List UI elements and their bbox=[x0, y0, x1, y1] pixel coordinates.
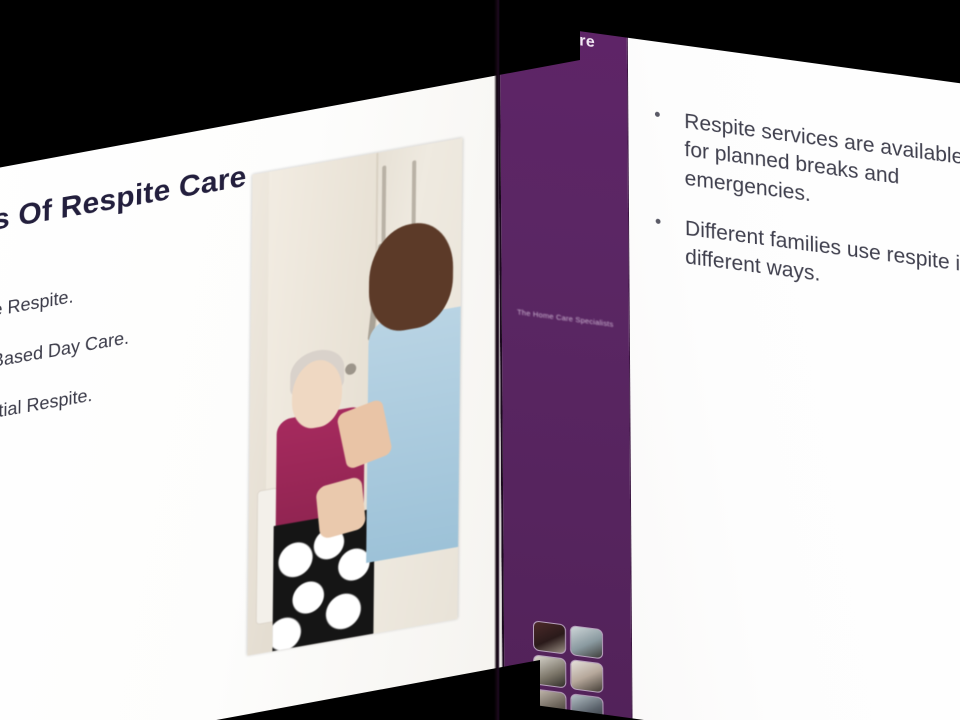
sidebar-thumbnail-1 bbox=[532, 620, 565, 654]
slide-right-canvas: KinCare The Home Care Specialists How To… bbox=[497, 0, 960, 720]
sidebar-thumbnail-4 bbox=[570, 659, 603, 693]
right-slide-bullet-list: Respite services are available for plann… bbox=[648, 103, 960, 332]
left-slide-bullet-list: In-Home Respite. Centre Based Day Care. … bbox=[0, 253, 264, 464]
right-slide-bullet-1: Respite services are available for plann… bbox=[648, 103, 960, 231]
left-slide-photo bbox=[247, 138, 462, 656]
slide-transition-stage: Types Of Respite Care In-Home Respite. C… bbox=[0, 0, 960, 720]
kincare-tagline: The Home Care Specialists bbox=[502, 305, 629, 331]
left-slide-bullet-3: Residential Respite. bbox=[0, 355, 263, 434]
slide-seam bbox=[494, 0, 500, 720]
brand-sidebar: KinCare The Home Care Specialists bbox=[497, 0, 632, 720]
right-slide-bullet-2: Different families use respite in differ… bbox=[649, 210, 960, 310]
sidebar-thumbnail-2 bbox=[569, 625, 602, 659]
sidebar-thumbnail-grid bbox=[532, 620, 603, 720]
slide-right[interactable]: KinCare The Home Care Specialists How To… bbox=[497, 0, 960, 720]
